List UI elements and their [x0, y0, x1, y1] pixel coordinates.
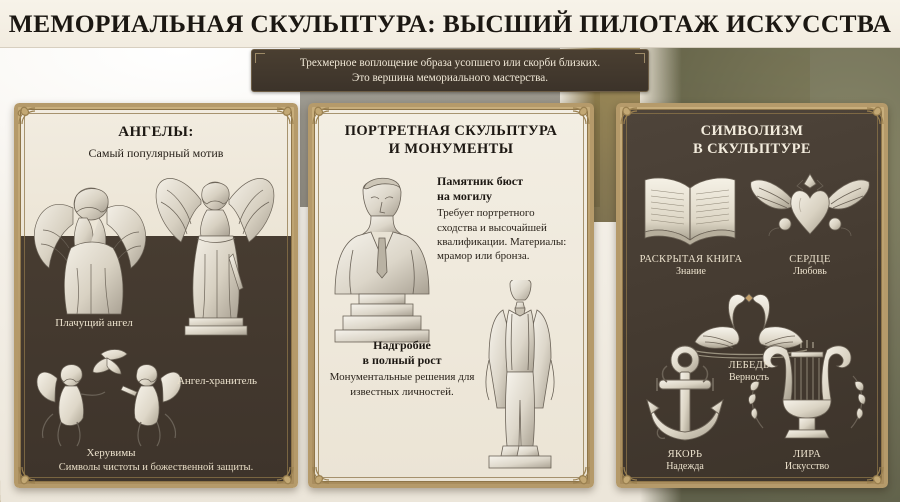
panel-angels[interactable]: АНГЕЛЫ: Самый популярный мотив [14, 103, 298, 488]
panel-title-line-1: СИМВОЛИЗМ [623, 123, 881, 140]
symbol-name: ЯКОРЬ [668, 449, 703, 460]
guardian-angel-icon [153, 158, 277, 358]
bust-sculpture-icon [323, 168, 441, 348]
text-block-bust: Памятник бюст на могилу Требует портретн… [437, 174, 575, 263]
block-body: Монументальные решения для известных лич… [329, 370, 475, 399]
panel-title: АНГЕЛЫ: [21, 124, 291, 142]
symbol-name: СЕРДЦЕ [789, 254, 830, 265]
panel-body: ПОРТРЕТНАЯ СКУЛЬПТУРА И МОНУМЕНТЫ [315, 110, 587, 481]
text-block-full-figure: Надгробие в полный рост Монументальные р… [329, 338, 475, 399]
panel-body: АНГЕЛЫ: Самый популярный мотив [21, 110, 291, 481]
figure-label-cherubs: Херувимы [43, 447, 179, 459]
anchor-icon [637, 342, 733, 450]
full-figure-statue-icon [465, 280, 575, 470]
symbol-name: ЛЕБЕДЬ [729, 360, 770, 371]
symbol-label-anchor: ЯКОРЬ Надежда [627, 449, 743, 472]
figure-label-weeping-angel: Плачущий ангел [27, 317, 161, 329]
winged-heart-icon [749, 166, 871, 250]
symbol-meaning: Знание [625, 266, 757, 277]
open-book-icon [637, 170, 743, 248]
subtitle-line-2: Это вершина мемориального мастерства. [352, 71, 548, 86]
block-heading-line-1: Памятник бюст [437, 174, 575, 189]
symbol-label-lyre: ЛИРА Искусство [747, 449, 867, 472]
symbol-label-heart: СЕРДЦЕ Любовь [751, 254, 869, 277]
lyre-icon [745, 336, 869, 448]
symbol-label-open-book: РАСКРЫТАЯ КНИГА Знание [625, 254, 757, 277]
symbol-meaning: Надежда [627, 461, 743, 472]
symbol-name: ЛИРА [793, 449, 821, 460]
panel-frame-inner: СИМВОЛИЗМ В СКУЛЬПТУРЕ [622, 109, 882, 482]
panel-title-line-1: ПОРТРЕТНАЯ СКУЛЬПТУРА [315, 123, 587, 140]
panel-subtitle: Самый популярный мотив [21, 146, 291, 160]
block-heading-line-1: Надгробие [329, 338, 475, 353]
panel-frame-inner: ПОРТРЕТНАЯ СКУЛЬПТУРА И МОНУМЕНТЫ [314, 109, 588, 482]
page-title: МЕМОРИАЛЬНАЯ СКУЛЬПТУРА: ВЫСШИЙ ПИЛОТАЖ … [0, 0, 900, 47]
block-heading-line-2: в полный рост [329, 353, 475, 368]
panel-title-line-2: И МОНУМЕНТЫ [315, 141, 587, 158]
symbol-name: РАСКРЫТАЯ КНИГА [640, 254, 743, 265]
infographic-canvas: МЕМОРИАЛЬНАЯ СКУЛЬПТУРА: ВЫСШИЙ ПИЛОТАЖ … [0, 0, 900, 502]
subtitle-line-1: Трехмерное воплощение образа усопшего ил… [300, 56, 600, 71]
subtitle-plate: Трехмерное воплощение образа усопшего ил… [251, 49, 649, 92]
figure-label-guardian-angel: Ангел-хранитель [149, 375, 285, 387]
panel-symbolism[interactable]: СИМВОЛИЗМ В СКУЛЬПТУРЕ [616, 103, 888, 488]
symbol-label-swan: ЛЕБЕДЬ Верность [685, 360, 813, 383]
symbol-meaning: Верность [685, 372, 813, 383]
symbol-meaning: Любовь [751, 266, 869, 277]
block-heading-line-2: на могилу [437, 189, 575, 204]
panel-portrait-sculpture[interactable]: ПОРТРЕТНАЯ СКУЛЬПТУРА И МОНУМЕНТЫ [308, 103, 594, 488]
panel-footer-note: Символы чистоты и божественной защиты. [21, 462, 291, 473]
cherubs-icon [35, 340, 185, 450]
panel-frame-inner: АНГЕЛЫ: Самый популярный мотив [20, 109, 292, 482]
weeping-angel-icon [29, 168, 159, 318]
panel-title-line-2: В СКУЛЬПТУРЕ [623, 141, 881, 158]
block-body: Требует портретного сходства и высочайше… [437, 206, 575, 263]
panel-body: СИМВОЛИЗМ В СКУЛЬПТУРЕ [623, 110, 881, 481]
symbol-meaning: Искусство [747, 461, 867, 472]
